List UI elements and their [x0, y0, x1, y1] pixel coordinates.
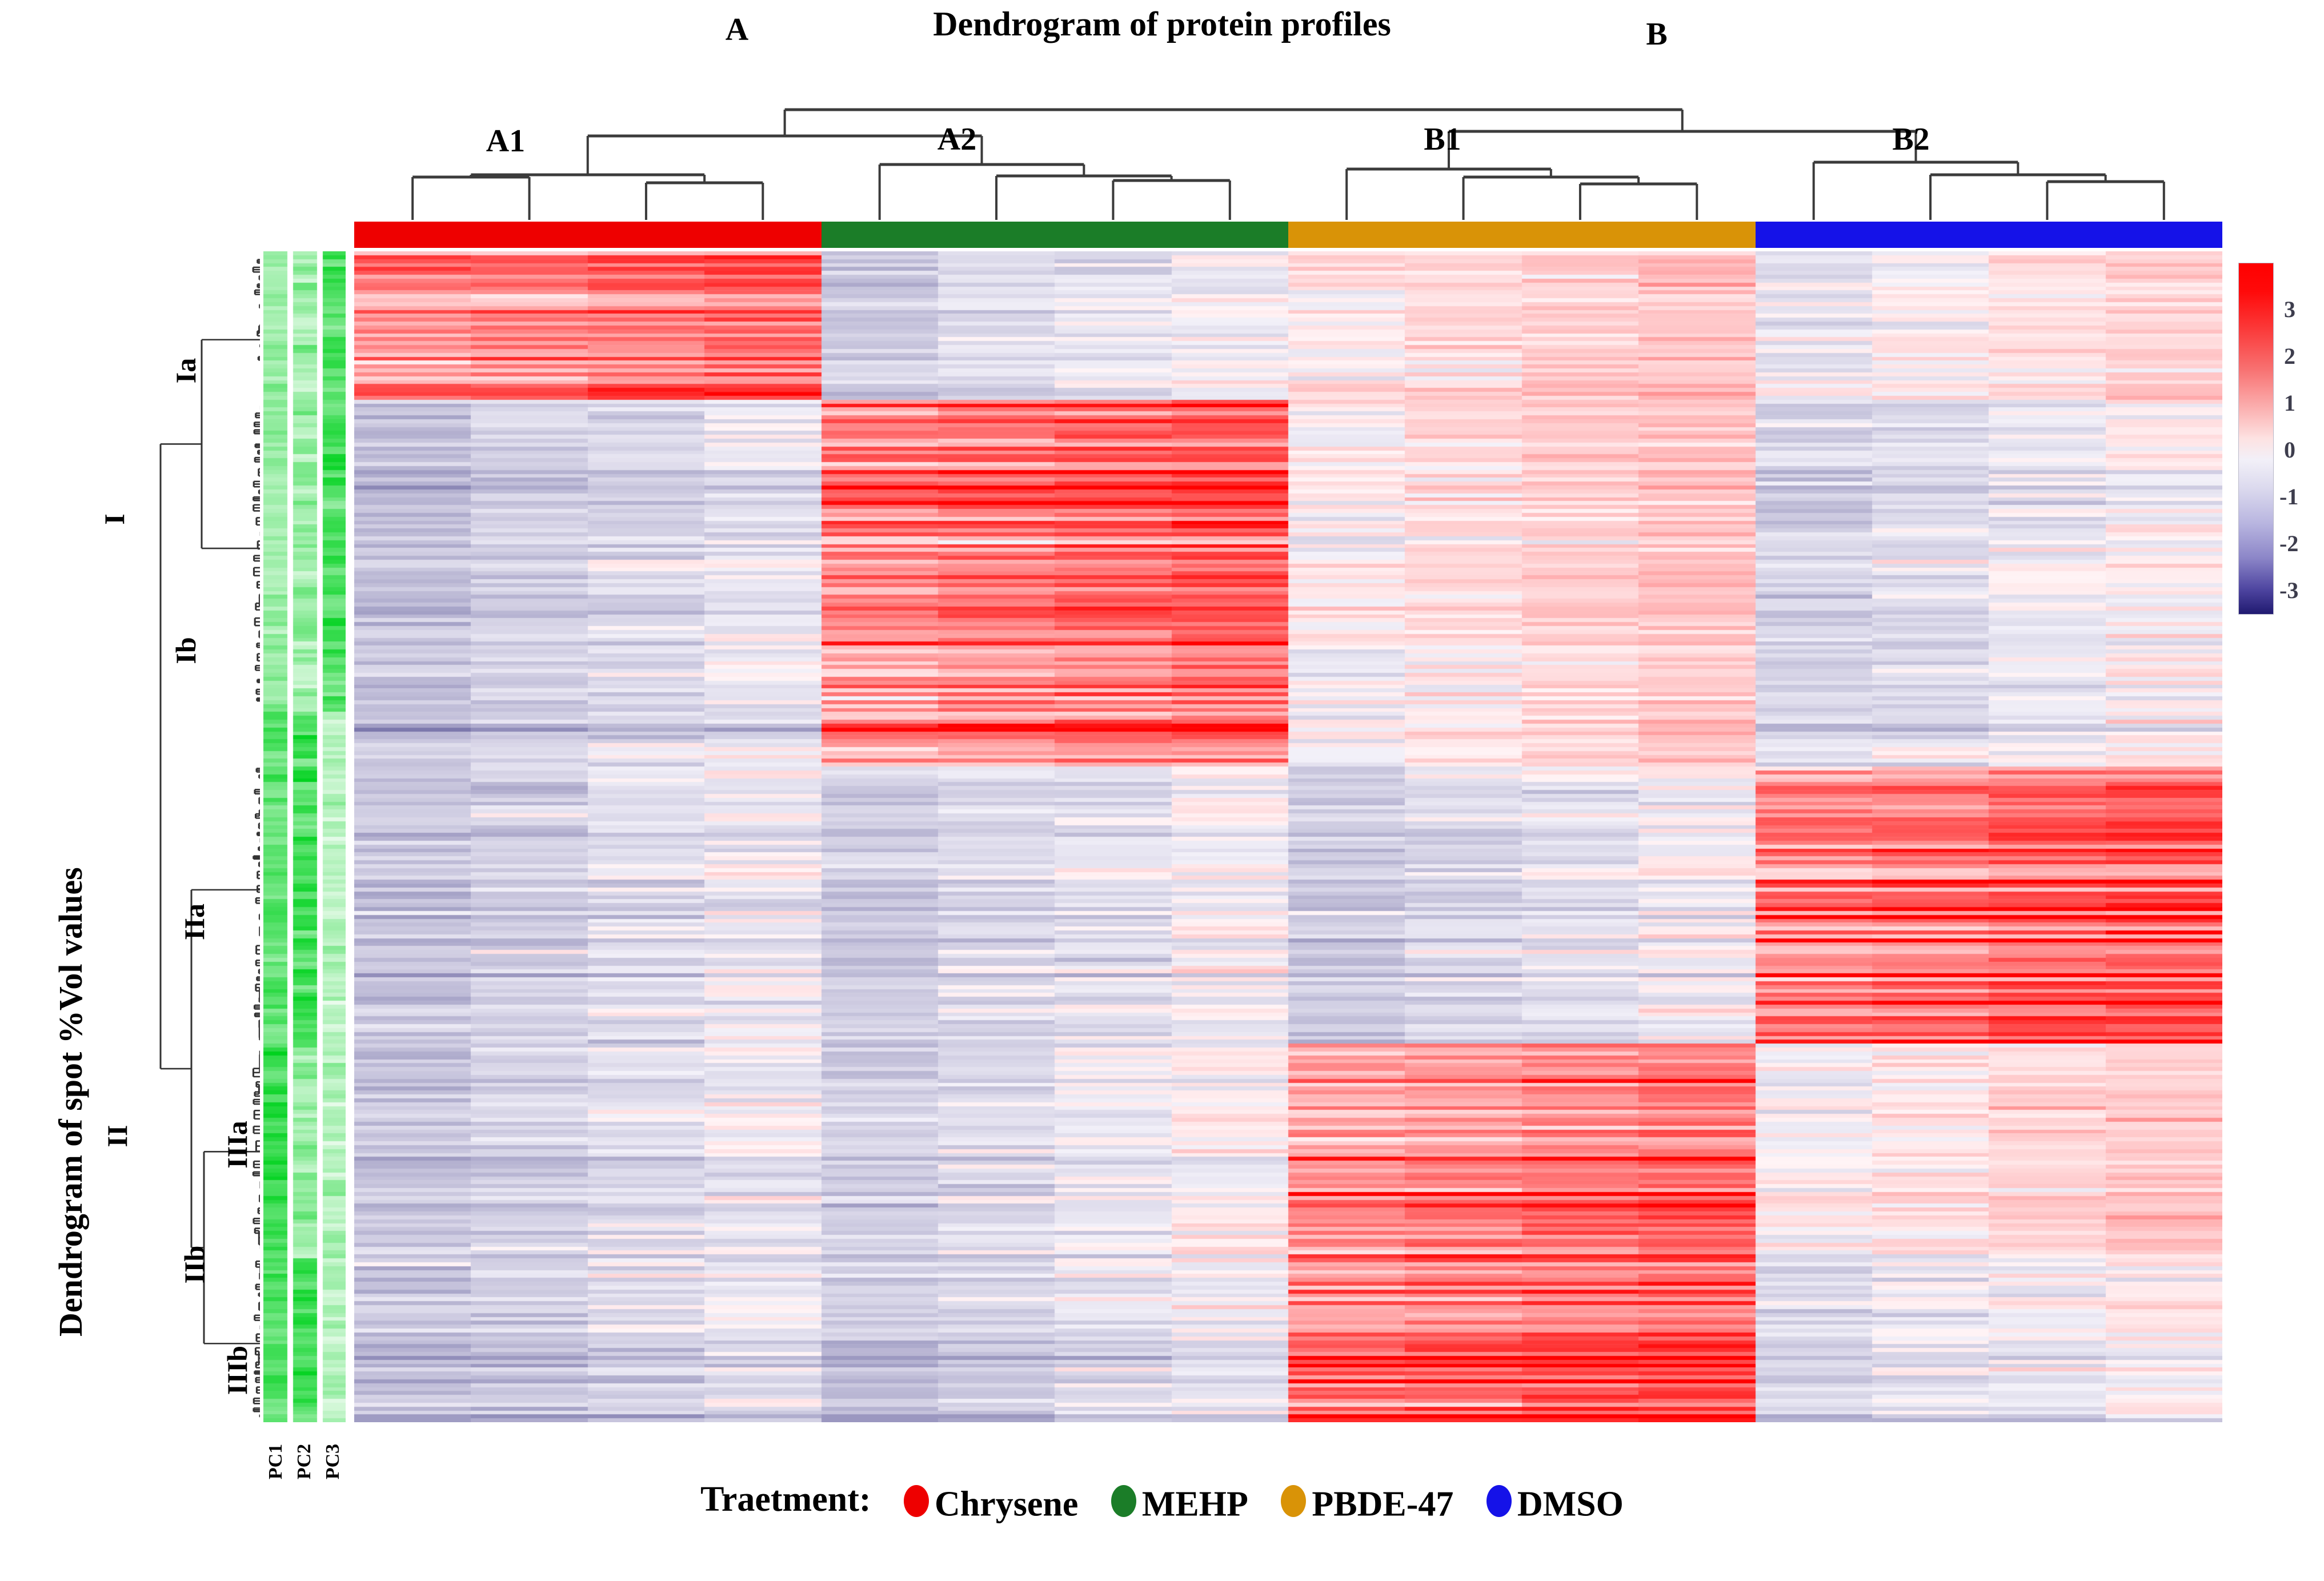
- column-cluster-label-A: A: [703, 11, 771, 48]
- colorbar-tick-3: 3: [2284, 296, 2295, 323]
- legend-item-pbde47[interactable]: PBDE-47: [1281, 1481, 1453, 1524]
- colorbar-tick-1: 1: [2284, 390, 2295, 416]
- colorbar-tick-neg3: -3: [2279, 577, 2298, 604]
- row-cluster-label-Ia: Ia: [169, 336, 202, 405]
- legend-label-dmso: DMSO: [1517, 1484, 1624, 1523]
- column-cluster-label-B: B: [1622, 16, 1691, 53]
- page-title: Dendrogram of protein profiles: [0, 5, 2324, 44]
- colorbar-gradient: [2238, 263, 2274, 615]
- legend-label-mehp: MEHP: [1142, 1484, 1248, 1523]
- legend-label-pbde47: PBDE-47: [1312, 1484, 1453, 1523]
- colorbar-tick-2: 2: [2284, 343, 2295, 370]
- column-cluster-label-A2: A2: [908, 121, 1005, 158]
- row-cluster-label-Ib: Ib: [169, 616, 202, 685]
- legend-item-dmso[interactable]: DMSO: [1486, 1481, 1624, 1524]
- row-cluster-label-IIb: IIb: [178, 1225, 211, 1305]
- treatment-legend: Traetment: Chrysene MEHP PBDE-47 DMSO: [0, 1479, 2324, 1524]
- legend-dot-pbde47: [1281, 1485, 1306, 1517]
- legend-dot-mehp: [1111, 1485, 1136, 1517]
- row-cluster-label-IIIa: IIIa: [221, 1096, 254, 1193]
- treatment-band-a1: [354, 222, 822, 248]
- legend-item-mehp[interactable]: MEHP: [1111, 1481, 1248, 1524]
- treatment-band-b2: [1756, 222, 2223, 248]
- legend-dot-dmso: [1486, 1485, 1512, 1517]
- colorbar-tick-neg1: -1: [2279, 483, 2298, 510]
- legend-label-chrysene: Chrysene: [935, 1484, 1078, 1523]
- y-axis-label: Dendrogram of spot %Vol values: [51, 867, 90, 1337]
- pc-annotation-columns: [260, 251, 346, 1422]
- legend-title: Traetment:: [700, 1480, 871, 1519]
- column-cluster-label-B1: B1: [1394, 121, 1491, 158]
- treatment-band-b1: [1288, 222, 1756, 248]
- heatmap-matrix: [354, 251, 2222, 1422]
- legend-dot-chrysene: [904, 1485, 929, 1517]
- row-cluster-label-IIa: IIa: [178, 882, 211, 962]
- treatment-color-band: [354, 222, 2222, 248]
- row-cluster-label-I: I: [98, 485, 131, 553]
- legend-item-chrysene[interactable]: Chrysene: [904, 1481, 1078, 1524]
- column-cluster-label-A1: A1: [457, 123, 554, 159]
- colorbar-tick-neg2: -2: [2279, 530, 2298, 557]
- colorbar-tick-0: 0: [2284, 436, 2295, 463]
- treatment-band-a2: [822, 222, 1289, 248]
- column-cluster-label-B2: B2: [1862, 121, 1960, 158]
- row-cluster-label-II: II: [101, 1099, 134, 1173]
- row-cluster-label-IIIb: IIIb: [221, 1322, 254, 1419]
